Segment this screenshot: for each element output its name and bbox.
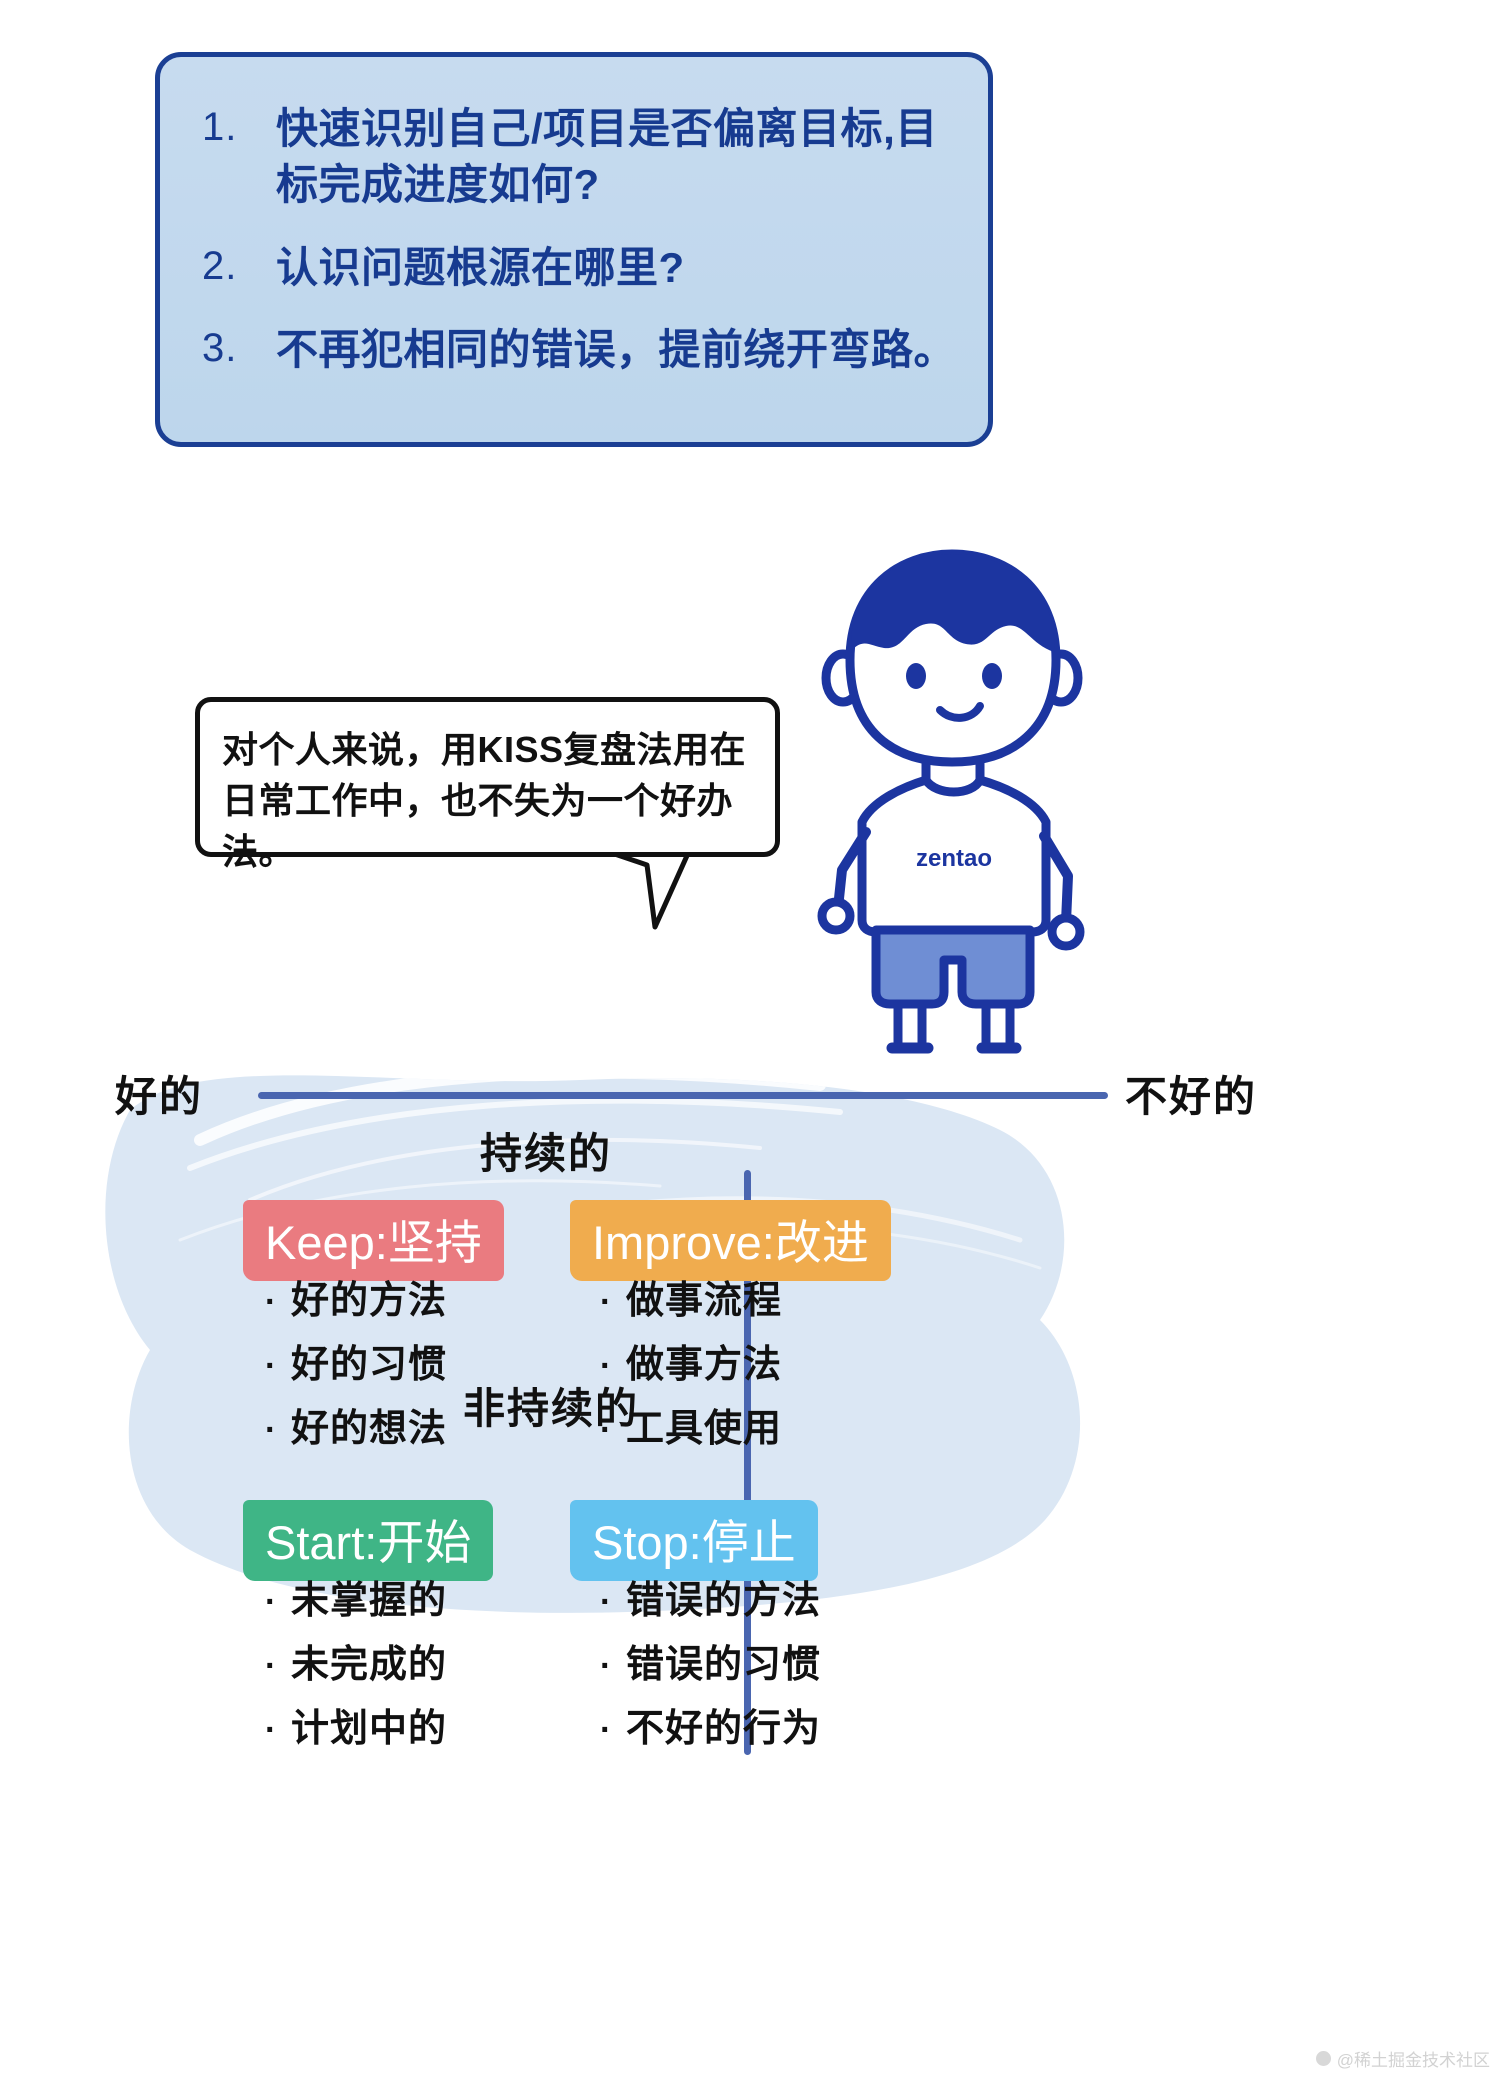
list-item-label: 做事方法 [626,1346,782,1384]
quadrant-badge-improve[interactable]: Improve:改进 [570,1200,891,1281]
watermark: @稀土掘金技术社区 [1316,2046,1490,2071]
speech-bubble-text: 对个人来说，用KISS复盘法用在日常工作中，也不失为一个好办法。 [222,724,759,877]
list-item-label: 计划中的 [291,1710,447,1748]
list-item-label: 不好的行为 [626,1710,821,1748]
watermark-logo-icon [1316,2051,1331,2066]
list-item-label: 做事流程 [626,1282,782,1320]
list-item: · 未完成的 [265,1646,447,1684]
speech-bubble-body: 对个人来说，用KISS复盘法用在日常工作中，也不失为一个好办法。 [195,697,780,857]
list-item: · 计划中的 [265,1710,447,1748]
list-item-label: 好的方法 [291,1282,447,1320]
list-item-label: 未掌握的 [291,1582,447,1620]
quadrant-list-keep: · 好的方法 · 好的习惯 · 好的想法 [265,1282,447,1474]
bullet-icon: · [600,1349,626,1383]
mascot-shirt-label: zentao [916,845,992,872]
bullet-icon: · [265,1585,291,1619]
list-item: · 工具使用 [600,1410,782,1448]
list-item: · 不好的行为 [600,1710,821,1748]
bullet-icon: · [265,1285,291,1319]
list-item-number: 3. [202,322,276,376]
bullet-icon: · [265,1413,291,1447]
speech-bubble: 对个人来说，用KISS复盘法用在日常工作中，也不失为一个好办法。 [195,697,795,927]
quadrant-list-improve: · 做事流程 · 做事方法 · 工具使用 [600,1282,782,1474]
list-item: 1. 快速识别自己/项目是否偏离目标,目标完成进度如何? [202,101,964,214]
quadrant-badge-keep[interactable]: Keep:坚持 [243,1200,504,1281]
list-item: · 做事流程 [600,1282,782,1320]
quadrant-list-stop: · 错误的方法 · 错误的习惯 · 不好的行为 [600,1582,821,1774]
list-item: · 错误的习惯 [600,1646,821,1684]
quadrant-list-start: · 未掌握的 · 未完成的 · 计划中的 [265,1582,447,1774]
key-points-box: 1. 快速识别自己/项目是否偏离目标,目标完成进度如何? 2. 认识问题根源在哪… [155,52,993,447]
list-item-label: 好的习惯 [291,1346,447,1384]
list-item: 2. 认识问题根源在哪里? [202,240,964,296]
list-item: · 未掌握的 [265,1582,447,1620]
list-item-text: 认识问题根源在哪里? [276,240,964,296]
bullet-icon: · [600,1285,626,1319]
bullet-icon: · [265,1713,291,1747]
list-item-label: 错误的方法 [626,1582,821,1620]
key-points-list: 1. 快速识别自己/项目是否偏离目标,目标完成进度如何? 2. 认识问题根源在哪… [202,101,964,404]
list-item: · 好的想法 [265,1410,447,1448]
bullet-icon: · [265,1649,291,1683]
watermark-text: @稀土掘金技术社区 [1337,2046,1490,2071]
bullet-icon: · [600,1713,626,1747]
bullet-icon: · [600,1649,626,1683]
quadrant-badge-stop[interactable]: Stop:停止 [570,1500,818,1581]
list-item: · 好的习惯 [265,1346,447,1384]
list-item-text: 快速识别自己/项目是否偏离目标,目标完成进度如何? [276,101,964,214]
bullet-icon: · [600,1413,626,1447]
list-item-number: 1. [202,101,276,155]
kiss-quadrant-diagram: 持续的 Keep:坚持 · 好的方法 · 好的习惯 · 好的想法 Improve… [0,1060,1512,2030]
list-item-number: 2. [202,240,276,294]
list-item-label: 未完成的 [291,1646,447,1684]
bullet-icon: · [265,1349,291,1383]
axis-label-top: 持续的 [480,1120,612,1181]
list-item-text: 不再犯相同的错误，提前绕开弯路。 [276,322,964,378]
list-item: · 做事方法 [600,1346,782,1384]
list-item-label: 错误的习惯 [626,1646,821,1684]
list-item-label: 工具使用 [626,1410,782,1448]
list-item-label: 好的想法 [291,1410,447,1448]
mascot-character: zentao [780,540,1120,1060]
quadrant-badge-start[interactable]: Start:开始 [243,1500,493,1581]
bullet-icon: · [600,1585,626,1619]
list-item: 3. 不再犯相同的错误，提前绕开弯路。 [202,322,964,378]
list-item: · 好的方法 [265,1282,447,1320]
list-item: · 错误的方法 [600,1582,821,1620]
